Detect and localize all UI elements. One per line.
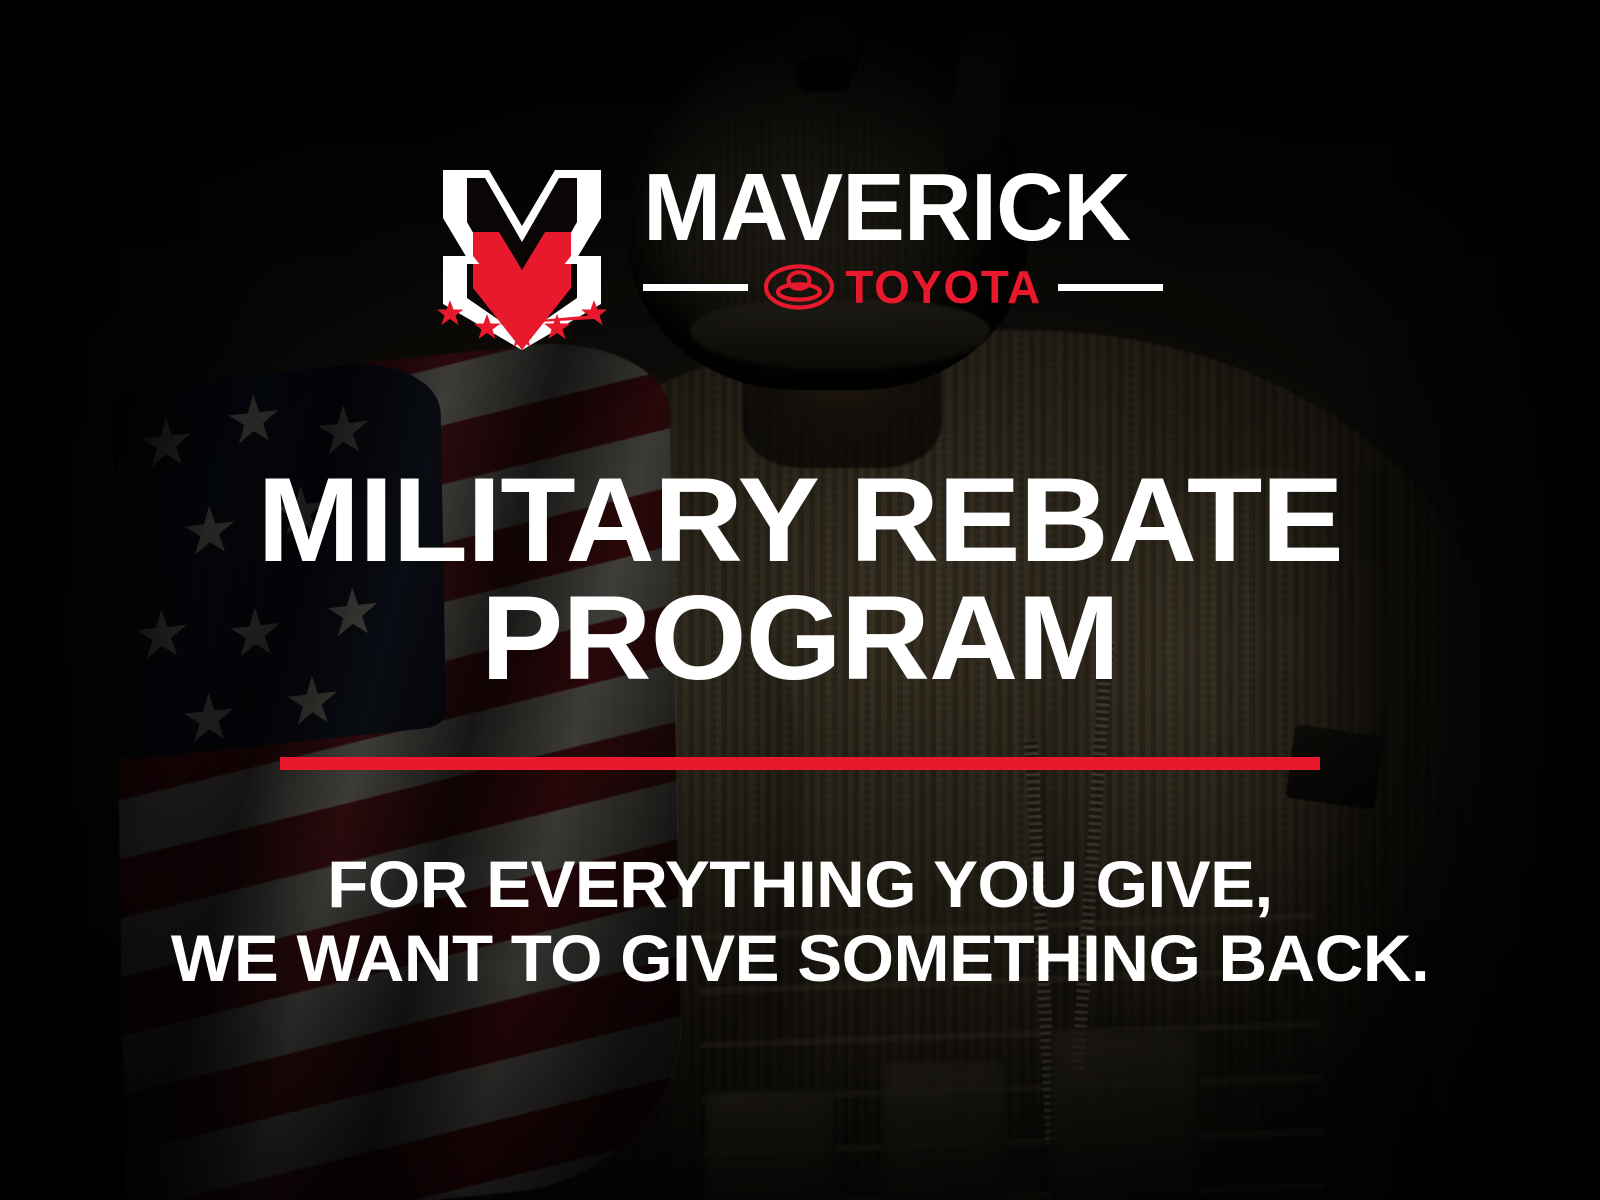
toyota-wordmark: TOYOTA	[845, 264, 1041, 310]
toyota-ellipse-mark	[764, 264, 834, 310]
toyota-rule-right	[1058, 284, 1163, 291]
military-rebate-poster: MAVERICK TOYOTA MILITARY	[0, 0, 1600, 1200]
headline-line-2: PROGRAM	[0, 580, 1600, 698]
toyota-lockup: TOYOTA	[643, 264, 1163, 310]
maverick-toyota-logo: MAVERICK TOYOTA	[0, 160, 1600, 350]
emblem-star	[474, 314, 501, 339]
emblem-star	[437, 300, 464, 325]
tagline-line-1: FOR EVERYTHING YOU GIVE,	[0, 848, 1600, 922]
page-title: MILITARY REBATE PROGRAM	[0, 462, 1600, 697]
maverick-wordmark-block: MAVERICK TOYOTA	[643, 160, 1163, 310]
toyota-rule-left	[643, 284, 748, 291]
maverick-chevron-emblem	[437, 160, 607, 350]
headline-line-1: MILITARY REBATE	[0, 462, 1600, 580]
tagline: FOR EVERYTHING YOU GIVE, WE WANT TO GIVE…	[0, 848, 1600, 996]
tagline-line-2: WE WANT TO GIVE SOMETHING BACK.	[0, 922, 1600, 996]
red-divider-rule	[280, 757, 1320, 770]
toyota-brand: TOYOTA	[764, 264, 1041, 310]
maverick-wordmark: MAVERICK	[643, 164, 1153, 252]
poster-content: MAVERICK TOYOTA MILITARY	[0, 0, 1600, 1200]
divider-container	[0, 757, 1600, 770]
emblem-star	[509, 322, 536, 347]
emblem-star	[486, 300, 608, 325]
